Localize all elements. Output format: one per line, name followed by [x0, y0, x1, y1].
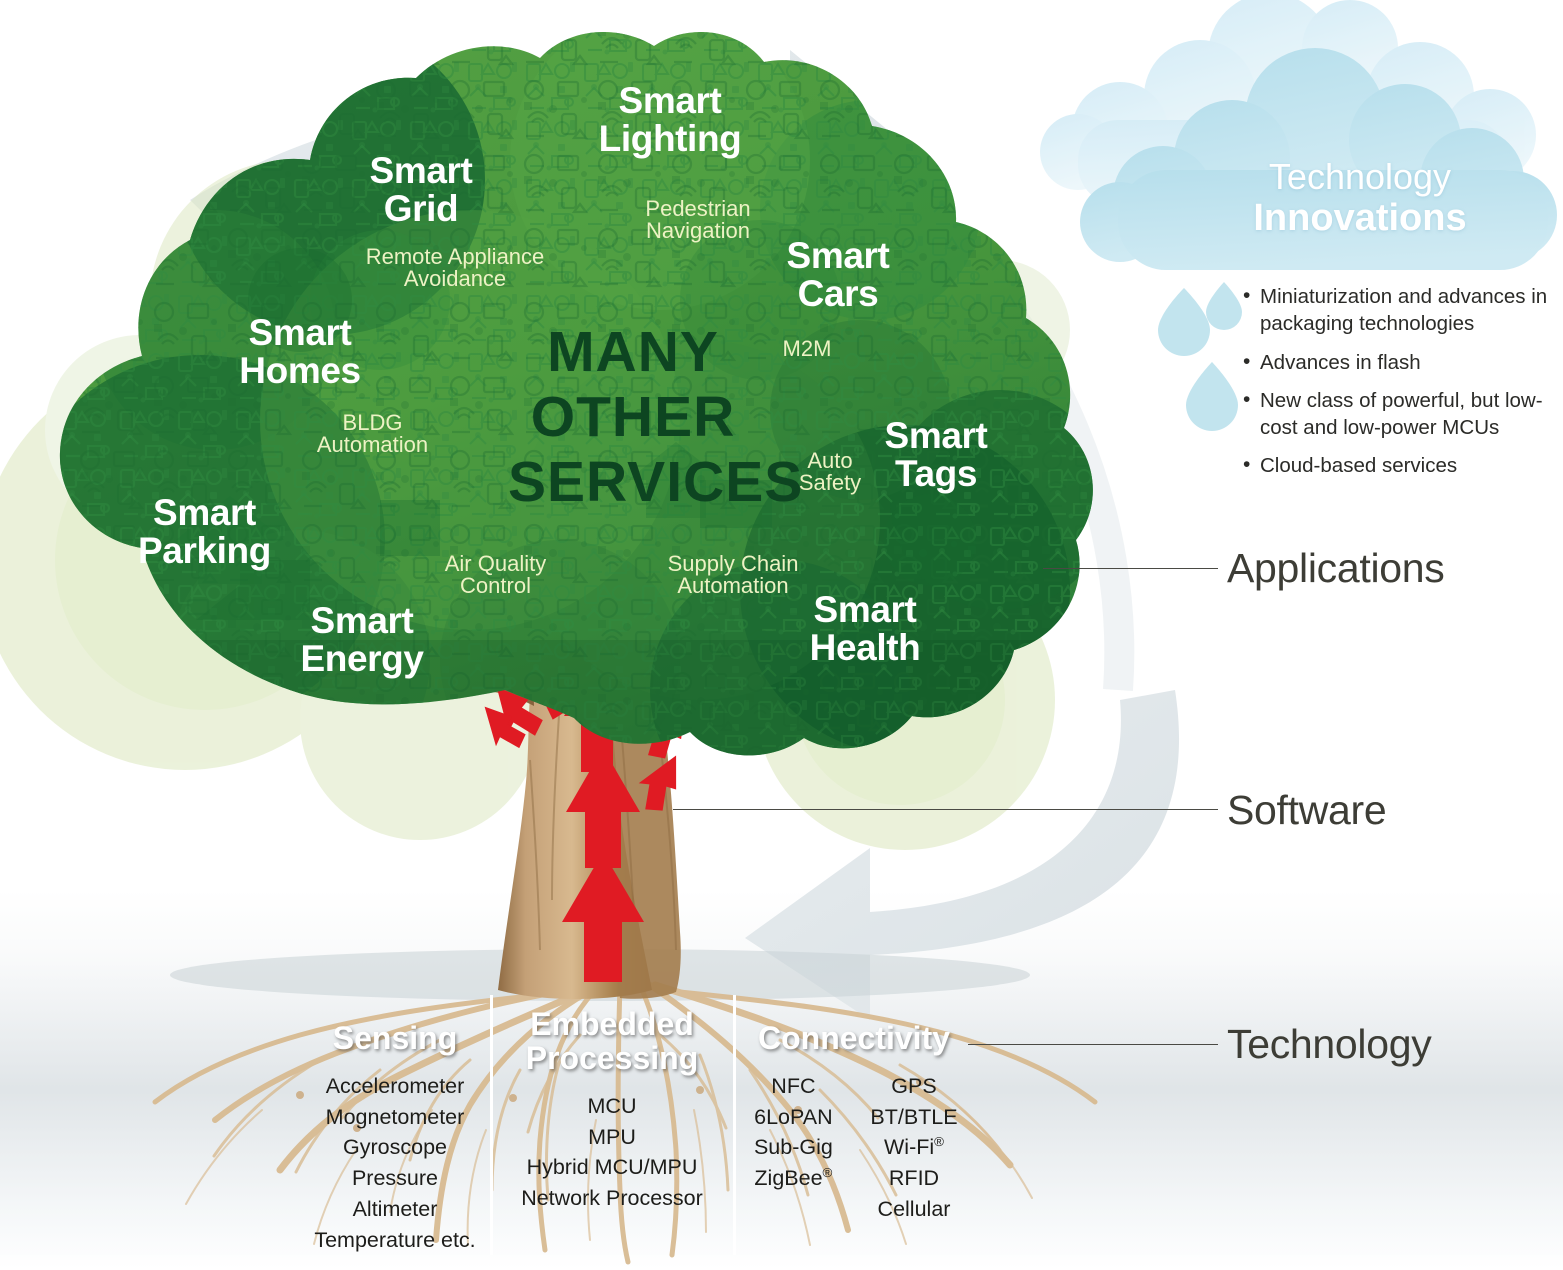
leader-line-software — [673, 809, 1218, 810]
root-heading-sensing: Sensing — [300, 1022, 490, 1056]
label-smart-cars: Smart Cars — [743, 237, 933, 312]
root-divider-left — [490, 995, 493, 1255]
label-smart-parking: Smart Parking — [97, 494, 312, 569]
cloud-title-line1: Technology — [1150, 157, 1563, 197]
stage-label-technology: Technology — [1227, 1021, 1431, 1068]
label-bldg-automation: BLDG Automation — [290, 412, 455, 457]
label-supply-chain-automation: Supply Chain Automation — [638, 553, 828, 598]
list-item: ZigBee® — [750, 1163, 836, 1194]
technology-innovations-list: Miniaturization and advances in packagin… — [1243, 283, 1563, 491]
list-item: Hybrid MCU/MPU — [497, 1152, 727, 1183]
list-item: 6LoPAN — [750, 1102, 836, 1133]
root-items-sensing: Accelerometer Mognetometer Gyroscope Pre… — [300, 1071, 490, 1255]
raindrop-group — [1158, 282, 1242, 431]
root-column-sensing: Sensing Accelerometer Mognetometer Gyros… — [300, 1022, 490, 1255]
root-items-connectivity-left: NFC 6LoPAN Sub-Gig ZigBee® — [750, 1071, 836, 1225]
list-item: Temperature etc. — [300, 1225, 490, 1256]
label-remote-appliance-avoidance: Remote Appliance Avoidance — [345, 246, 565, 291]
list-item: MPU — [497, 1122, 727, 1153]
list-item: Miniaturization and advances in packagin… — [1243, 283, 1563, 338]
list-item: Advances in flash — [1243, 349, 1563, 376]
list-item: GPS — [870, 1071, 957, 1102]
list-item: Network Processor — [497, 1183, 727, 1214]
label-m2m: M2M — [757, 338, 857, 360]
cycle-arrow-top — [190, 50, 900, 258]
root-items-connectivity-right: GPS BT/BTLE Wi-Fi® RFID Cellular — [870, 1071, 957, 1225]
root-heading-embedded-processing: Embedded Processing — [497, 1008, 727, 1076]
iot-tree-infographic: Technology Innovations Miniaturization a… — [0, 0, 1563, 1270]
label-smart-homes: Smart Homes — [205, 314, 395, 389]
root-items-connectivity: NFC 6LoPAN Sub-Gig ZigBee® GPS BT/BTLE W… — [740, 1071, 968, 1225]
stage-label-applications: Applications — [1227, 545, 1444, 592]
list-item: Cloud-based services — [1243, 452, 1563, 479]
list-item: Accelerometer — [300, 1071, 490, 1102]
list-item: Altimeter — [300, 1194, 490, 1225]
root-divider-right — [733, 995, 736, 1255]
root-column-connectivity: Connectivity NFC 6LoPAN Sub-Gig ZigBee® … — [740, 1022, 968, 1225]
cloud-title-line2: Innovations — [1150, 197, 1563, 240]
list-item: Mognetometer — [300, 1102, 490, 1133]
label-air-quality-control: Air Quality Control — [414, 553, 577, 598]
cloud-title: Technology Innovations — [1150, 157, 1563, 240]
list-item: BT/BTLE — [870, 1102, 957, 1133]
list-item: NFC — [750, 1071, 836, 1102]
list-item: Wi-Fi® — [870, 1132, 957, 1163]
list-item: Pressure — [300, 1163, 490, 1194]
list-item: MCU — [497, 1091, 727, 1122]
label-smart-grid: Smart Grid — [326, 152, 516, 227]
cycle-arrow-bottom — [745, 690, 1179, 1020]
stage-label-software: Software — [1227, 787, 1386, 834]
label-pedestrian-navigation: Pedestrian Navigation — [608, 198, 788, 243]
root-items-embedded-processing: MCU MPU Hybrid MCU/MPU Network Processor — [497, 1091, 727, 1214]
list-item: Gyroscope — [300, 1132, 490, 1163]
list-item: RFID — [870, 1163, 957, 1194]
leader-line-technology — [968, 1044, 1218, 1045]
leader-line-applications — [1043, 568, 1218, 569]
label-smart-energy: Smart Energy — [267, 602, 457, 677]
root-column-embedded-processing: Embedded Processing MCU MPU Hybrid MCU/M… — [497, 1008, 727, 1214]
red-arrow-group — [471, 608, 698, 982]
label-auto-safety: Auto Safety — [776, 450, 884, 495]
canopy-center-text: MANY OTHER SERVICES — [508, 320, 758, 515]
root-heading-connectivity: Connectivity — [740, 1022, 968, 1056]
list-item: Cellular — [870, 1194, 957, 1225]
label-smart-health: Smart Health — [770, 591, 960, 666]
list-item: New class of powerful, but low-cost and … — [1243, 387, 1563, 442]
label-smart-lighting: Smart Lighting — [575, 82, 765, 157]
list-item: Sub-Gig — [750, 1132, 836, 1163]
